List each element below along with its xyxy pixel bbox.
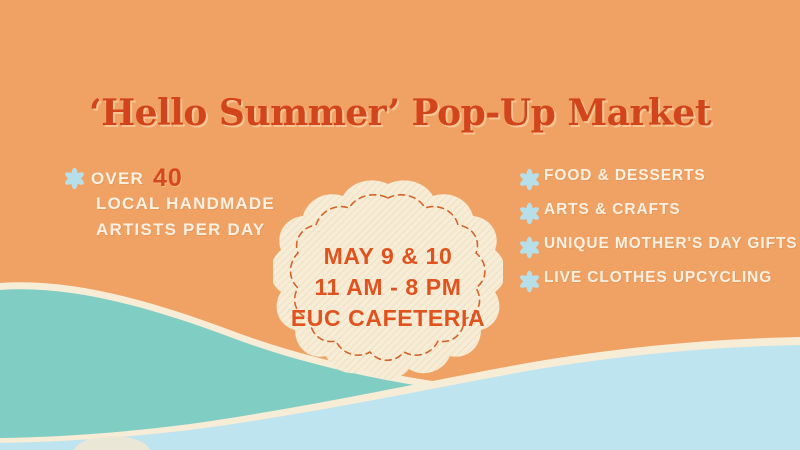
- flower-asterisk-icon: [63, 168, 85, 190]
- feature-label: Food & Desserts: [544, 167, 706, 185]
- artist-count: 40: [153, 166, 183, 191]
- flower-asterisk-icon: [518, 236, 540, 258]
- flower-asterisk-icon: [518, 270, 540, 292]
- over-word: Over: [91, 170, 144, 187]
- feature-item-clothes-upcycling: Live Clothes Upcycling: [518, 269, 800, 292]
- feature-label: Unique Mother's Day Gifts: [544, 235, 798, 253]
- left-block-line-2: Local Handmade: [96, 191, 303, 217]
- page-title: ‘Hello Summer’ Pop-Up Market: [0, 92, 800, 134]
- flower-asterisk-icon: [518, 168, 540, 190]
- poster-canvas: ‘Hello Summer’ Pop-Up Market Over 40 Loc…: [0, 0, 800, 450]
- feature-item-mothers-day-gifts: Unique Mother's Day Gifts: [518, 235, 800, 258]
- event-details-badge: May 9 & 10 11 AM - 8 PM EUC Cafeteria: [273, 178, 503, 396]
- flower-asterisk-icon: [518, 202, 540, 224]
- feature-label: Arts & Crafts: [544, 201, 681, 219]
- left-stat-block: Over 40 Local Handmade Artists Per Day: [63, 166, 303, 243]
- badge-shape: [273, 178, 503, 396]
- feature-item-arts-crafts: Arts & Crafts: [518, 201, 800, 224]
- over-count-line: Over 40: [63, 166, 303, 191]
- feature-label: Live Clothes Upcycling: [544, 269, 772, 287]
- left-block-line-3: Artists Per Day: [96, 217, 303, 243]
- feature-list: Food & Desserts Arts & Crafts Unique Mot…: [518, 167, 800, 303]
- feature-item-food-desserts: Food & Desserts: [518, 167, 800, 190]
